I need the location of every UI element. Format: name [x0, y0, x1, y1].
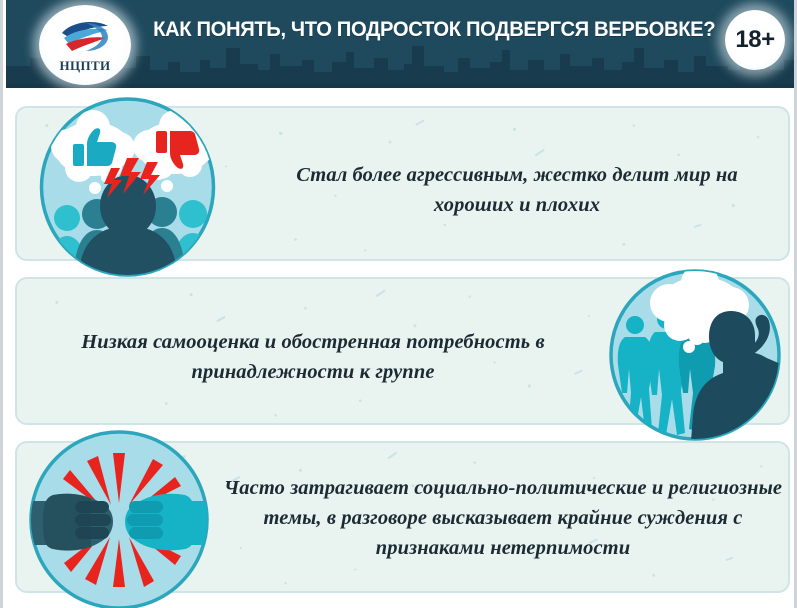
page-title: КАК ПОНЯТЬ, ЧТО ПОДРОСТОК ПОДВЕРГСЯ ВЕРБ… — [153, 14, 689, 44]
infographic-poster: НЦПТИ КАК ПОНЯТЬ, ЧТО ПОДРОСТОК ПОДВЕРГС… — [0, 0, 797, 608]
crowd-thumbs-up-down-icon — [35, 96, 220, 278]
header-bar: НЦПТИ КАК ПОНЯТЬ, ЧТО ПОДРОСТОК ПОДВЕРГС… — [6, 0, 797, 88]
age-rating-badge: 18+ — [725, 10, 785, 70]
card-aggression: Стал более агрессивным, жестко делит мир… — [15, 106, 790, 261]
card-text: Часто затрагивает социально-политические… — [213, 473, 793, 563]
age-rating-label: 18+ — [735, 26, 774, 54]
cards-container: Стал более агрессивным, жестко делит мир… — [6, 88, 797, 608]
logo-text: НЦПТИ — [59, 58, 110, 74]
card-text: Низкая самооценка и обостренная потребно… — [39, 327, 587, 387]
clashing-fists-icon — [23, 429, 215, 608]
lonely-teen-thought-bubble-icon — [605, 269, 785, 441]
swoosh-logo-icon — [56, 17, 114, 57]
card-text: Стал более агрессивным, жестко делит мир… — [257, 160, 777, 220]
card-extreme-opinions: Часто затрагивает социально-политические… — [15, 441, 790, 593]
organization-logo: НЦПТИ — [39, 5, 131, 85]
card-low-self-esteem: Низкая самооценка и обостренная потребно… — [15, 277, 790, 425]
